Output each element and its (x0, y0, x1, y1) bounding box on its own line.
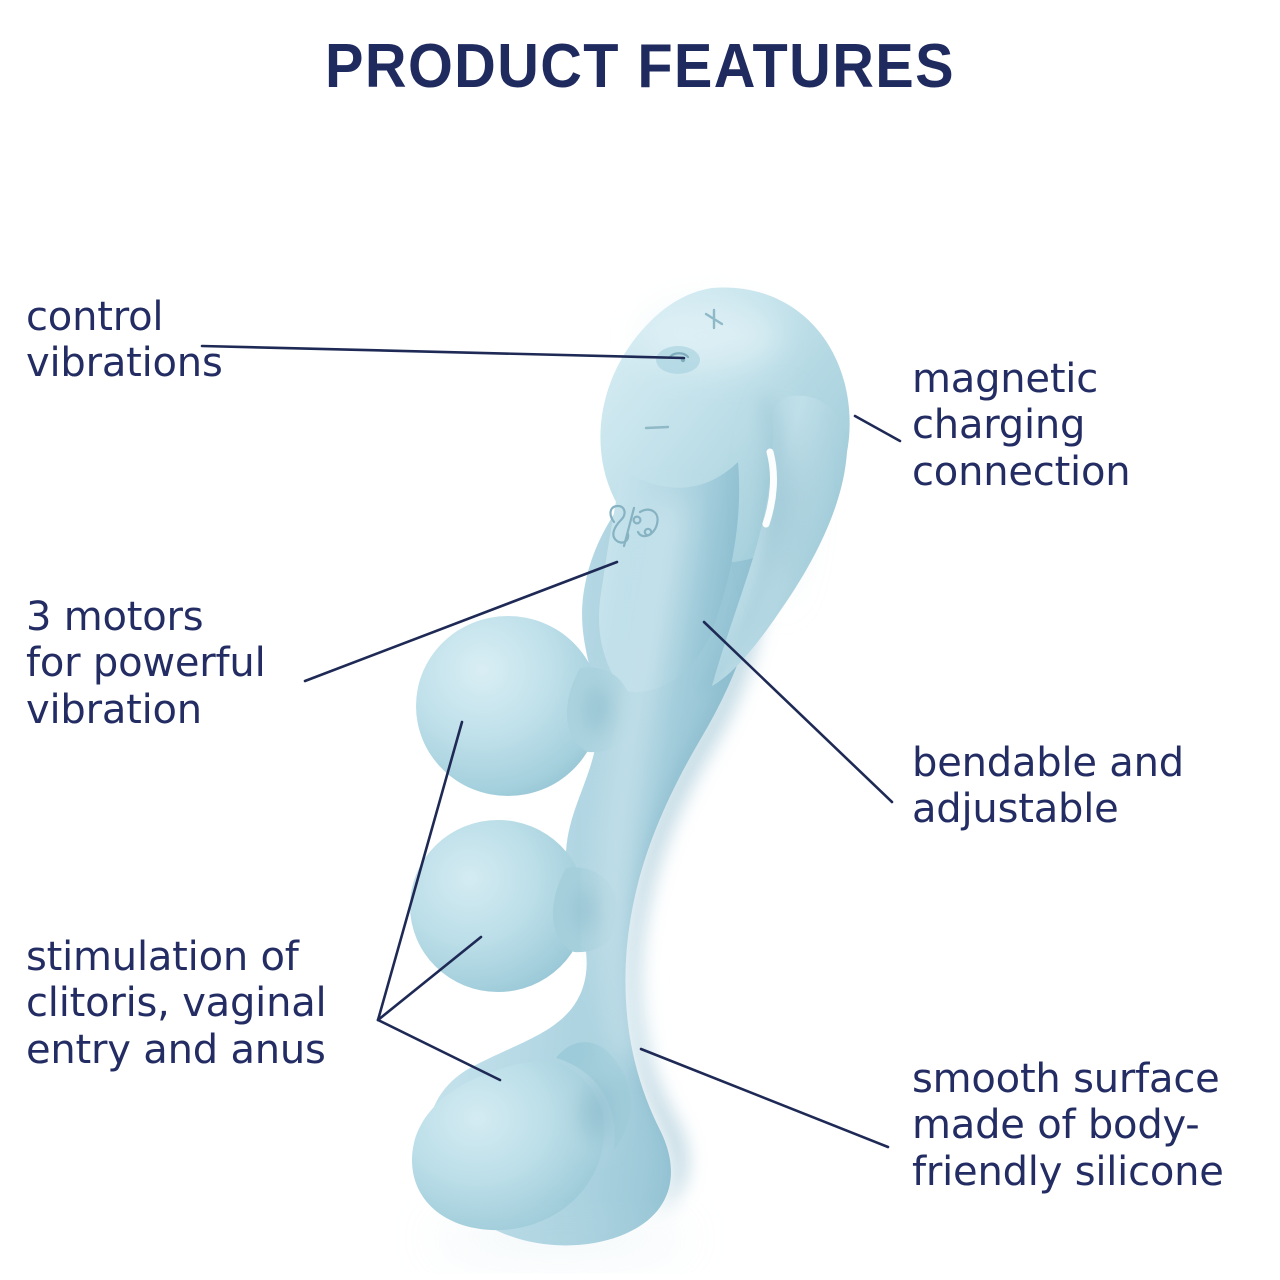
leader-line-control-vibrations (202, 346, 684, 358)
product-features-infographic: PRODUCT FEATURES (0, 0, 1280, 1280)
minus-button-icon[interactable] (646, 427, 668, 428)
leader-line-magnetic-charging-connection (855, 416, 900, 441)
lobe-lower-crevice (564, 1062, 628, 1162)
callout-stimulation: stimulation of clitoris, vaginal entry a… (26, 934, 326, 1073)
product-body (410, 287, 850, 1254)
power-button-icon[interactable] (656, 346, 700, 374)
leader-line-stimulation-of-clitoris-vaginal-entry-and-anus-3 (378, 1020, 500, 1080)
callout-three-motors: 3 motors for powerful vibration (26, 594, 266, 733)
callout-magnetic-charging-connection: magnetic charging connection (912, 356, 1130, 495)
callout-bendable-and-adjustable: bendable and adjustable (912, 740, 1184, 833)
callout-smooth-surface: smooth surface made of body- friendly si… (912, 1056, 1224, 1195)
contact-shadow (430, 1222, 690, 1254)
leader-line-bendable-and-adjustable (704, 622, 892, 802)
callout-control-vibrations: control vibrations (26, 294, 223, 387)
